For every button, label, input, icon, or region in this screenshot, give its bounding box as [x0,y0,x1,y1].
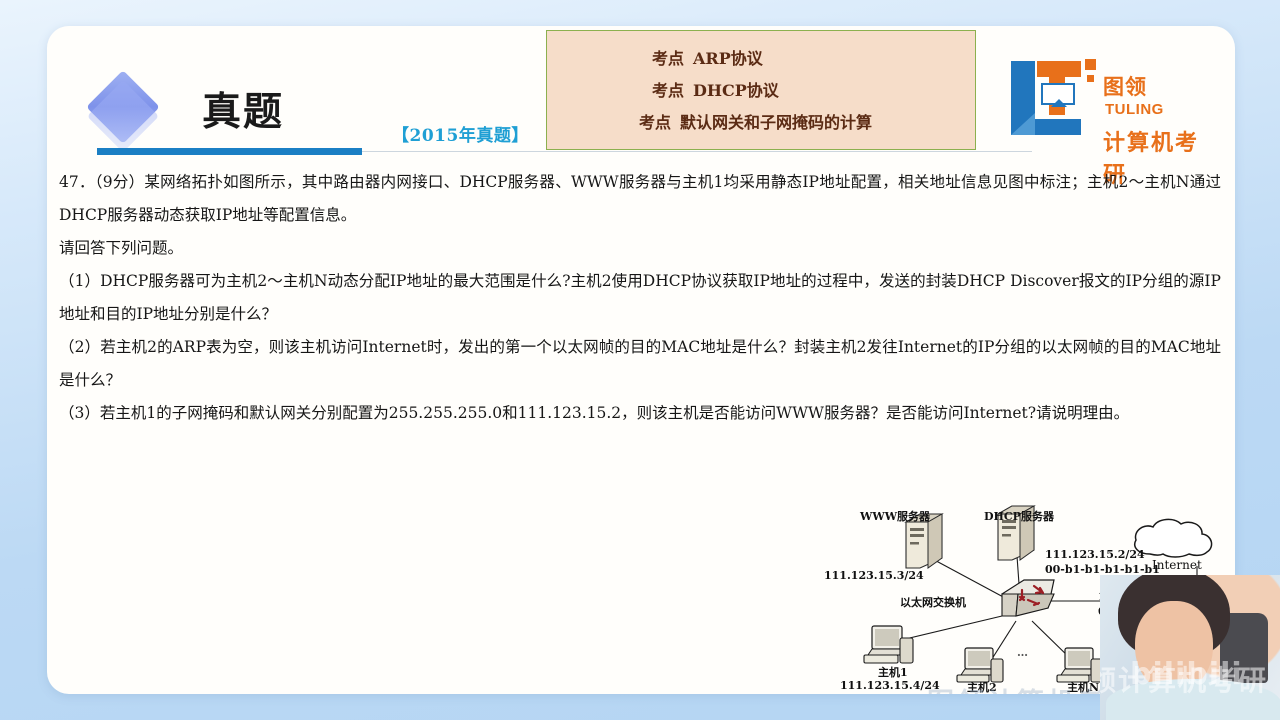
question-body: 47．（9分）某网络拓扑如图所示，其中路由器内网接口、DHCP服务器、WWW服务… [59,166,1221,430]
exam-point-keyword: 考点 [652,43,684,75]
question-sub-1: （1）DHCP服务器可为主机2～主机N动态分配IP地址的最大范围是什么?主机2使… [59,265,1221,331]
dhcp-server-label: DHCP服务器 [984,508,1054,524]
title-underline-solid [97,148,362,155]
hosts-ellipsis: … [1017,646,1028,659]
brand-name-cn: 图领 [1103,71,1147,101]
host1-icon [864,626,913,663]
question-sub-2: （2）若主机2的ARP表为空，则该主机访问Internet时，发出的第一个以太网… [59,331,1221,397]
hostn-icon [1057,648,1103,682]
exam-point-row: 考点 DHCP协议 [547,75,975,107]
dhcp-server-ip-label: 111.123.15.2/24 [1045,548,1145,561]
question-sub-3: （3）若主机1的子网掩码和默认网关分别配置为255.255.255.0和111.… [59,397,1221,430]
tuling-logo-icon [1007,57,1099,137]
title-underline-thin [362,151,1032,152]
internet-label: Internet [1152,558,1202,572]
switch-label: 以太网交换机 [900,594,966,610]
year-tag: 【2015年真题】 [392,121,529,146]
brand-logo: 图领TULING 计算机考研 [1007,53,1207,151]
question-stem-line2: 请回答下列问题。 [59,232,1221,265]
diamond-bullet-icon [86,70,160,144]
slide-header: 真题 【2015年真题】 考点 ARP协议 考点 DHCP协议 考点 默认网关和… [47,26,1235,156]
exam-point-text: ARP协议 [693,43,763,75]
exam-point-row: 考点 默认网关和子网掩码的计算 [547,107,975,139]
slide-card: 真题 【2015年真题】 考点 ARP协议 考点 DHCP协议 考点 默认网关和… [47,26,1235,694]
www-server-ip-label: 111.123.15.3/24 [824,569,924,582]
host1-label: 主机1 [878,664,908,680]
bilibili-watermark: bilibili [1130,657,1243,692]
exam-point-text: 默认网关和子网掩码的计算 [680,107,872,139]
presenter-video-overlay: 图领计算机考研 bilibili [1100,575,1280,720]
ethernet-switch-icon [1002,580,1054,616]
exam-points-box: 考点 ARP协议 考点 DHCP协议 考点 默认网关和子网掩码的计算 [546,30,976,150]
exam-point-row: 考点 ARP协议 [547,43,975,75]
exam-point-keyword: 考点 [639,107,671,139]
www-server-label: WWW服务器 [860,508,930,524]
page-title: 真题 [202,81,284,137]
question-stem-line1: 47．（9分）某网络拓扑如图所示，其中路由器内网接口、DHCP服务器、WWW服务… [59,166,1221,232]
host1-ip-label: 111.123.15.4/24 [840,679,940,692]
internet-cloud-icon [1135,519,1212,557]
exam-point-keyword: 考点 [652,75,684,107]
brand-name-en: TULING [1105,101,1164,118]
exam-point-text: DHCP协议 [693,75,779,107]
